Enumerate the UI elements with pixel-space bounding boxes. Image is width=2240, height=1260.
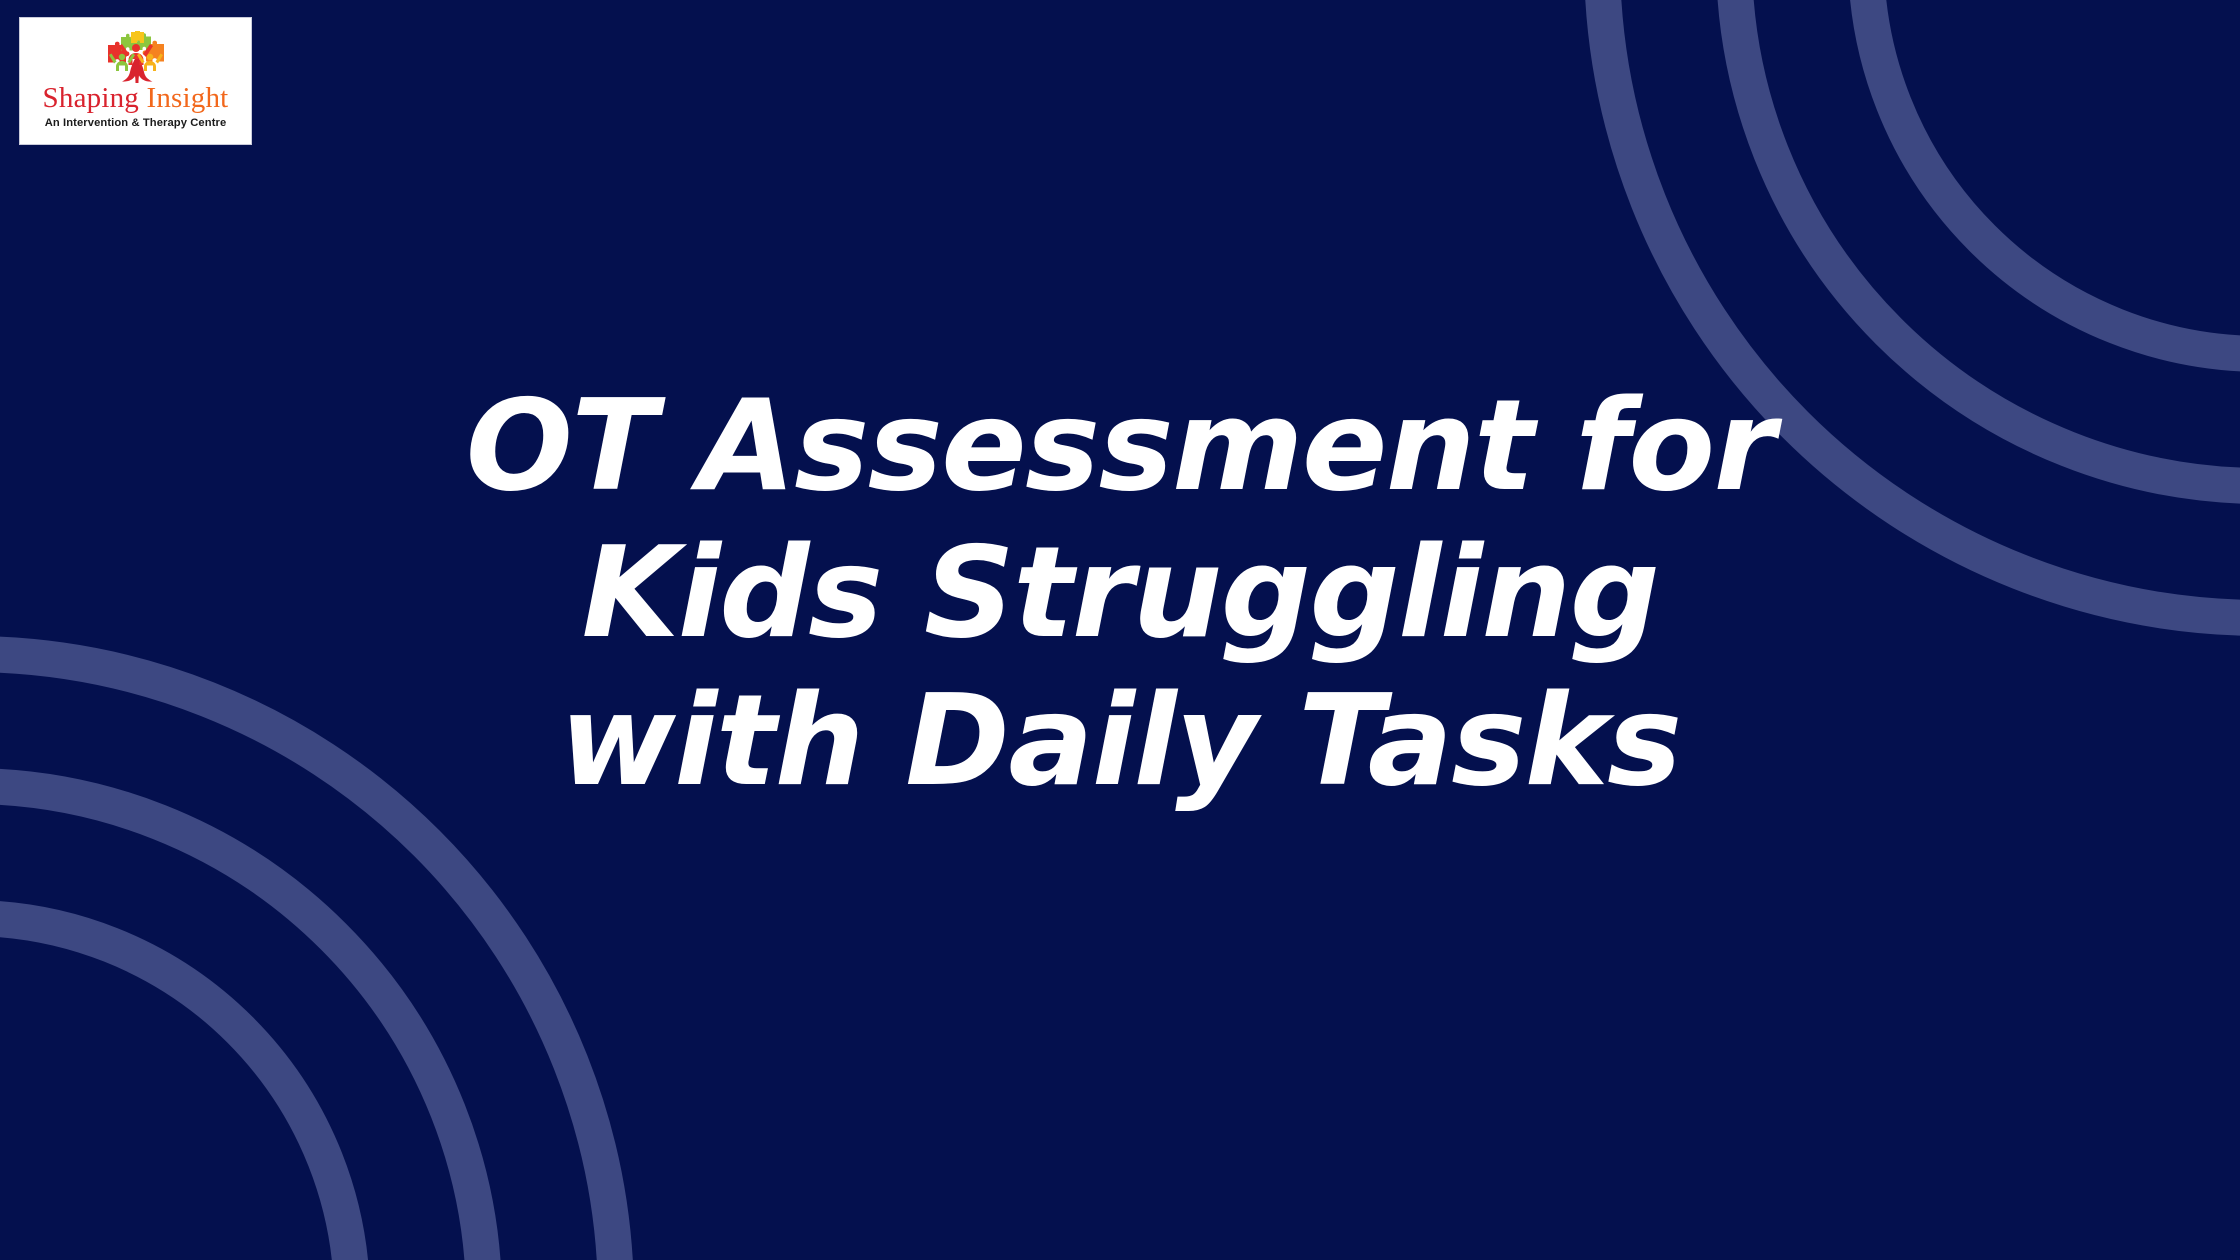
brand-logo-card: Shaping Insight An Intervention & Therap… (19, 17, 252, 145)
bottom-left-arc-inner (0, 918, 352, 1260)
slide-headline: OT Assessment for Kids Struggling with D… (0, 372, 2240, 814)
slide-canvas: Shaping Insight An Intervention & Therap… (0, 0, 2240, 1260)
brand-word-shaping: Shaping (43, 82, 139, 114)
top-right-arc-inner (1866, 0, 2240, 354)
headline-line-3: with Daily Tasks (260, 667, 1980, 814)
tree-people-puzzle-logo-icon (94, 31, 178, 83)
brand-word-insight: Insight (146, 82, 228, 114)
headline-line-2: Kids Struggling (260, 519, 1980, 666)
headline-line-1: OT Assessment for (260, 372, 1980, 519)
brand-wordmark: Shaping Insight (43, 84, 229, 114)
brand-tagline: An Intervention & Therapy Centre (45, 117, 227, 129)
bottom-left-arc-middle (0, 786, 484, 1260)
